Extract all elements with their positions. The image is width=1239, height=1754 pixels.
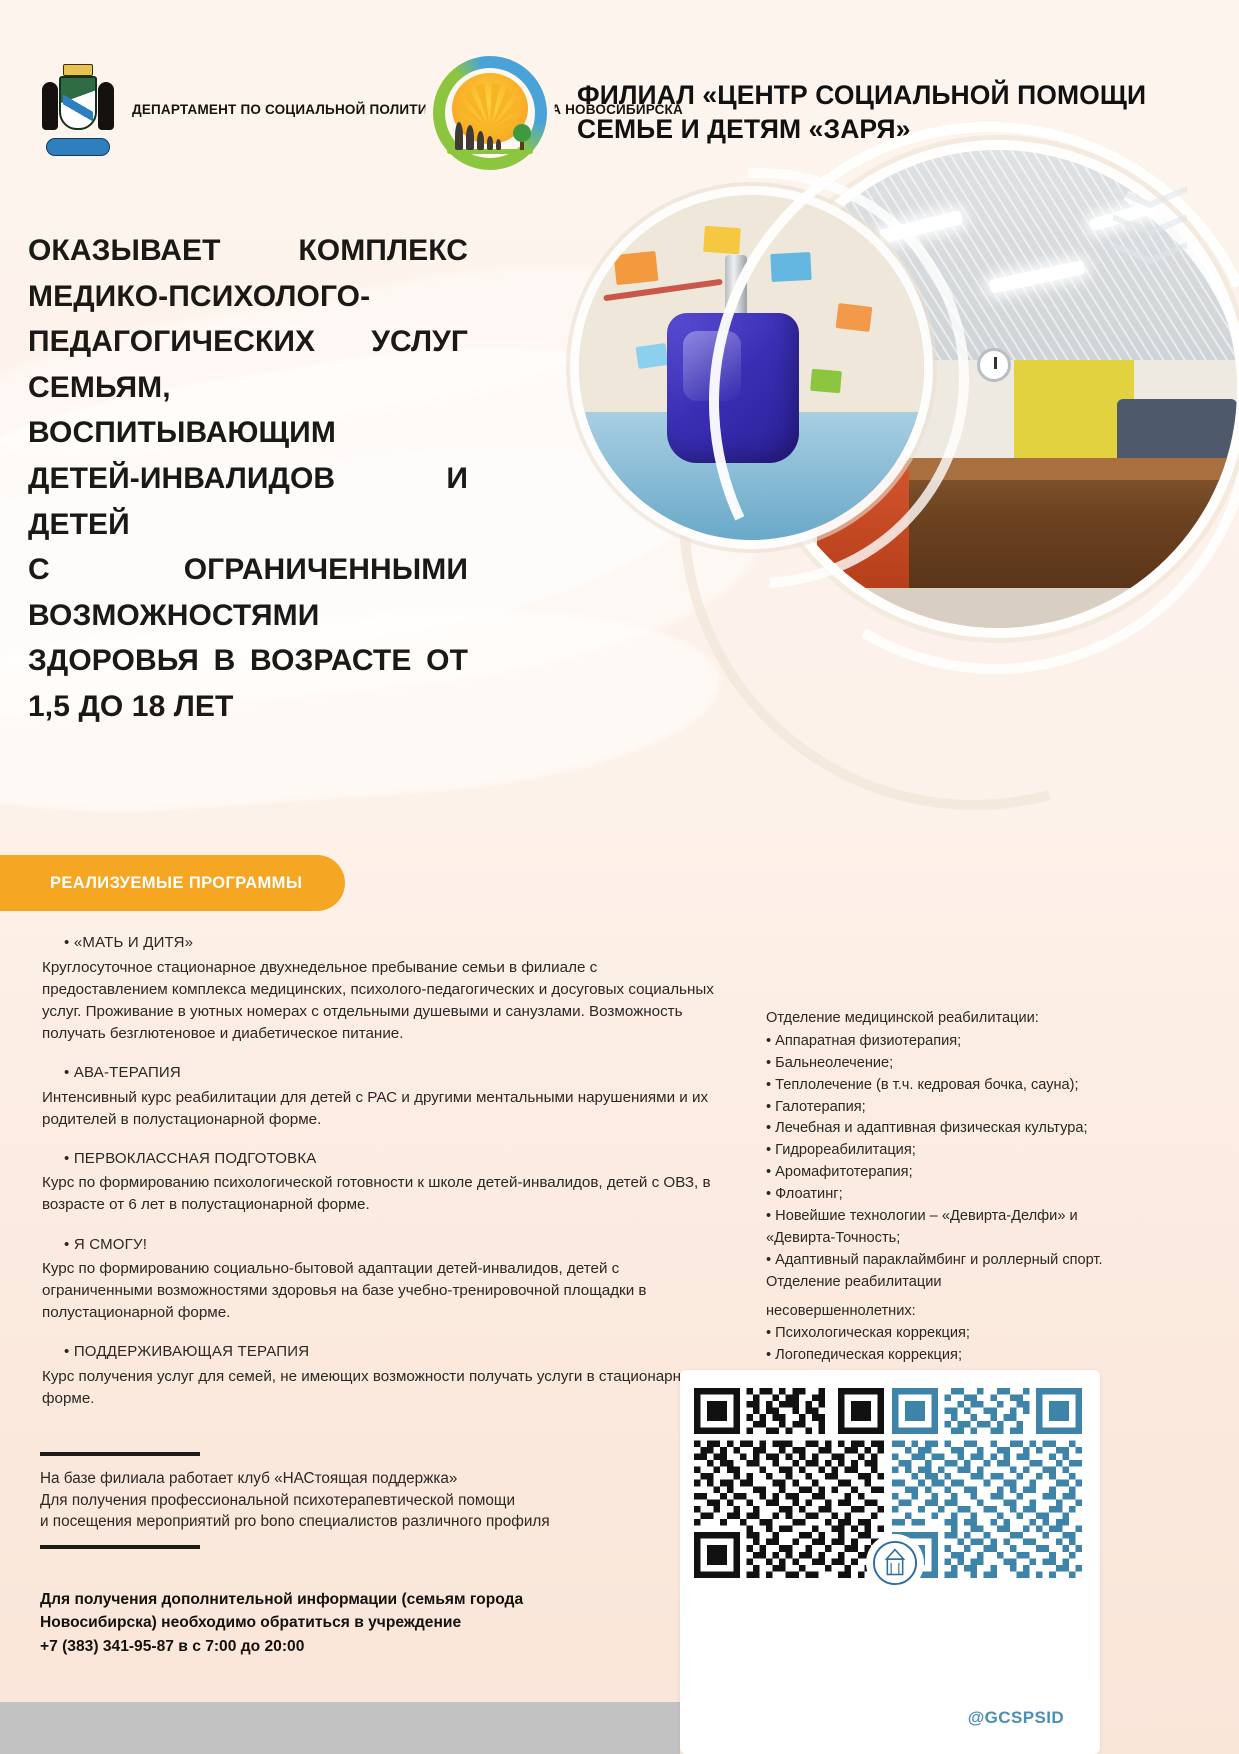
service-item: Аппаратная физиотерапия; <box>766 1031 1111 1053</box>
club-block: На базе филиала работает клуб «НАСтоящая… <box>40 1452 680 1549</box>
programs-badge: РЕАЛИЗУЕМЫЕ ПРОГРАММЫ <box>0 855 345 911</box>
services-list: Отделение медицинской реабилитации: Аппа… <box>766 1008 1111 1389</box>
headline-line: ОКАЗЫВАЕТ КОМПЛЕКС <box>28 228 468 274</box>
contact-phone: +7 (383) 341-95-87 в с 7:00 до 20:00 <box>40 1635 690 1658</box>
service-item: Лечебная и адаптивная физическая культур… <box>766 1118 1111 1140</box>
service-item: Аромафитотерапия; <box>766 1162 1111 1184</box>
headline-line: ПЕДАГОГИЧЕСКИХ УСЛУГ <box>28 319 468 365</box>
program-description: Круглосуточное стационарное двухнедельно… <box>42 957 717 1045</box>
service-item: Новейшие технологии – «Девирта-Делфи» и … <box>766 1206 1111 1250</box>
club-line: На базе филиала работает клуб «НАСтоящая… <box>40 1468 680 1490</box>
headline-line: ДЕТЕЙ-ИНВАЛИДОВ И ДЕТЕЙ <box>28 456 468 547</box>
page-title: ОКАЗЫВАЕТ КОМПЛЕКС МЕДИКО-ПСИХОЛОГО- ПЕД… <box>28 228 468 730</box>
service-item: Флоатинг; <box>766 1184 1111 1206</box>
program-item: «МАТЬ И ДИТЯ» Круглосуточное стационарно… <box>42 932 717 1045</box>
program-title: «МАТЬ И ДИТЯ» <box>64 932 717 954</box>
headline-line: СЕМЬЯМ, ВОСПИТЫВАЮЩИМ <box>28 365 468 456</box>
program-title: ПЕРВОКЛАССНАЯ ПОДГОТОВКА <box>64 1148 717 1170</box>
service-item: Теплолечение (в т.ч. кедровая бочка, сау… <box>766 1075 1111 1097</box>
contact-block: Для получения дополнительной информации … <box>40 1588 690 1658</box>
headline-line: ЗДОРОВЬЯ В ВОЗРАСТЕ ОТ <box>28 638 468 684</box>
program-description: Интенсивный курс реабилитации для детей … <box>42 1087 717 1131</box>
service-item: Галотерапия; <box>766 1097 1111 1119</box>
qr-code-website[interactable] <box>694 1388 884 1578</box>
services-medical-heading: Отделение медицинской реабилитации: <box>766 1008 1111 1030</box>
program-description: Курс по формированию социально-бытовой а… <box>42 1258 717 1324</box>
services-minors-heading-line1: Отделение реабилитации <box>766 1272 1111 1294</box>
program-description: Курс получения услуг для семей, не имеющ… <box>42 1366 717 1410</box>
services-minors-heading-line2: несовершеннолетних: <box>766 1301 1111 1323</box>
club-line: и посещения мероприятий pro bono специал… <box>40 1511 680 1533</box>
headline-line: 1,5 ДО 18 ЛЕТ <box>28 684 468 730</box>
program-title: ПОДДЕРЖИВАЮЩАЯ ТЕРАПИЯ <box>64 1341 717 1363</box>
coat-of-arms-icon <box>40 62 116 158</box>
qr-panel: @GCSPSID <box>680 1370 1100 1754</box>
bottom-strip <box>0 1702 680 1754</box>
program-title: АВА-ТЕРАПИЯ <box>64 1062 717 1084</box>
program-item: АВА-ТЕРАПИЯ Интенсивный курс реабилитаци… <box>42 1062 717 1131</box>
services-medical-items: Аппаратная физиотерапия; Бальнеолечение;… <box>766 1031 1111 1272</box>
headline-line: ВОЗМОЖНОСТЯМИ <box>28 593 468 639</box>
chevron-down-icon <box>1113 186 1187 270</box>
center-seal-icon <box>866 1534 924 1592</box>
divider <box>40 1452 200 1456</box>
service-item: Гидрореабилитация; <box>766 1140 1111 1162</box>
program-item: ПОДДЕРЖИВАЮЩАЯ ТЕРАПИЯ Курс получения ус… <box>42 1341 717 1410</box>
headline-line: МЕДИКО-ПСИХОЛОГО- <box>28 274 468 320</box>
service-item: Логопедическая коррекция; <box>766 1345 1111 1367</box>
programs-list: «МАТЬ И ДИТЯ» Круглосуточное стационарно… <box>42 932 717 1427</box>
poster-canvas: ДЕПАРТАМЕНТ ПО СОЦИАЛЬНОЙ ПОЛИТИКЕ МЭРИИ… <box>0 0 1239 1754</box>
contact-line: Для получения дополнительной информации … <box>40 1588 690 1611</box>
program-item: ПЕРВОКЛАССНАЯ ПОДГОТОВКА Курс по формиро… <box>42 1148 717 1217</box>
photo-collage <box>559 150 1239 810</box>
social-handle: @GCSPSID <box>968 1708 1064 1728</box>
club-line: Для получения профессиональной психотера… <box>40 1490 680 1512</box>
service-item: Бальнеолечение; <box>766 1053 1111 1075</box>
contact-line: Новосибирска) необходимо обратиться в уч… <box>40 1611 690 1634</box>
headline-line: С ОГРАНИЧЕННЫМИ <box>28 547 468 593</box>
divider <box>40 1545 200 1549</box>
program-title: Я СМОГУ! <box>64 1234 717 1256</box>
zarya-logo-icon <box>425 48 555 178</box>
service-item: Психологическая коррекция; <box>766 1323 1111 1345</box>
programs-badge-label: РЕАЛИЗУЕМЫЕ ПРОГРАММЫ <box>50 874 302 893</box>
program-item: Я СМОГУ! Курс по формированию социально-… <box>42 1234 717 1325</box>
service-item: Адаптивный параклаймбинг и роллерный спо… <box>766 1250 1111 1272</box>
program-description: Курс по формированию психологической гот… <box>42 1172 717 1216</box>
